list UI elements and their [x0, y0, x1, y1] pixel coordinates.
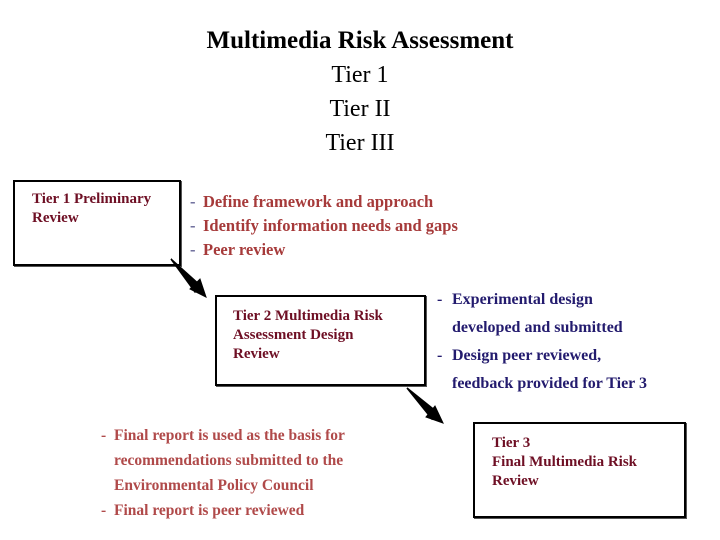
slide-title-block: Multimedia Risk Assessment Tier 1 Tier I… — [0, 24, 720, 160]
bullet-dash-icon: - — [437, 342, 452, 370]
list-item: - Identify information needs and gaps — [190, 214, 530, 238]
subtitle-tier-1: Tier 1 — [0, 58, 720, 92]
box-tier-3-line-2: Final Multimedia Risk — [492, 454, 637, 470]
notes-tier-2: - Experimental design developed and subm… — [437, 286, 715, 398]
box-tier-2-line-2: Assessment Design — [233, 327, 353, 343]
list-item-text: Design peer reviewed, feedback provided … — [452, 342, 715, 398]
list-item-text: Identify information needs and gaps — [203, 214, 530, 238]
list-item: - Define framework and approach — [190, 190, 530, 214]
bullet-dash-icon: - — [101, 498, 114, 523]
list-item: - Final report is used as the basis for … — [101, 423, 431, 498]
box-tier-3-line-1: Tier 3 — [492, 435, 530, 451]
list-item: - Final report is peer reviewed — [101, 498, 431, 523]
list-item-line: recommendations submitted to the — [114, 448, 431, 473]
notes-tier-1: - Define framework and approach - Identi… — [190, 190, 530, 262]
bullet-dash-icon: - — [101, 423, 114, 448]
list-item-line: Final report is used as the basis for — [114, 423, 431, 448]
bullet-dash-icon: - — [190, 214, 203, 238]
box-tier-1-line-2: Review — [32, 210, 79, 226]
list-item-line: Design peer reviewed, — [452, 342, 715, 370]
list-item-text: Final report is used as the basis for re… — [114, 423, 431, 498]
list-item-text: Define framework and approach — [203, 190, 530, 214]
bullet-dash-icon: - — [437, 286, 452, 314]
list-item-line: Experimental design — [452, 286, 715, 314]
list-item-line: developed and submitted — [452, 314, 715, 342]
list-item-line: Environmental Policy Council — [114, 473, 431, 498]
bullet-dash-icon: - — [190, 190, 203, 214]
list-item: - Peer review — [190, 238, 530, 262]
subtitle-tier-2: Tier II — [0, 92, 720, 126]
subtitle-tier-3: Tier III — [0, 126, 720, 160]
notes-tier-3: - Final report is used as the basis for … — [101, 423, 431, 523]
box-tier-2-text: Tier 2 Multimedia Risk Assessment Design… — [217, 297, 424, 364]
box-tier-2-design-review[interactable]: Tier 2 Multimedia Risk Assessment Design… — [215, 295, 426, 386]
box-tier-3-final-review[interactable]: Tier 3 Final Multimedia Risk Review — [473, 422, 686, 518]
box-tier-2-line-3: Review — [233, 346, 280, 362]
box-tier-3-text: Tier 3 Final Multimedia Risk Review — [475, 424, 684, 491]
box-tier-2-line-1: Tier 2 Multimedia Risk — [233, 308, 383, 324]
box-tier-3-line-3: Review — [492, 473, 539, 489]
arrow-down-right-icon — [404, 386, 454, 430]
box-tier-1-line-1: Tier 1 Preliminary — [32, 191, 151, 207]
page-title: Multimedia Risk Assessment — [0, 24, 720, 58]
list-item-text: Experimental design developed and submit… — [452, 286, 715, 342]
box-tier-1-text: Tier 1 Preliminary Review — [15, 182, 179, 228]
list-item-text: Peer review — [203, 238, 530, 262]
box-tier-1-preliminary-review[interactable]: Tier 1 Preliminary Review — [13, 180, 181, 266]
list-item-text: Final report is peer reviewed — [114, 498, 431, 523]
arrow-down-right-icon — [168, 256, 218, 304]
list-item: - Design peer reviewed, feedback provide… — [437, 342, 715, 398]
list-item-line: feedback provided for Tier 3 — [452, 370, 715, 398]
list-item: - Experimental design developed and subm… — [437, 286, 715, 342]
